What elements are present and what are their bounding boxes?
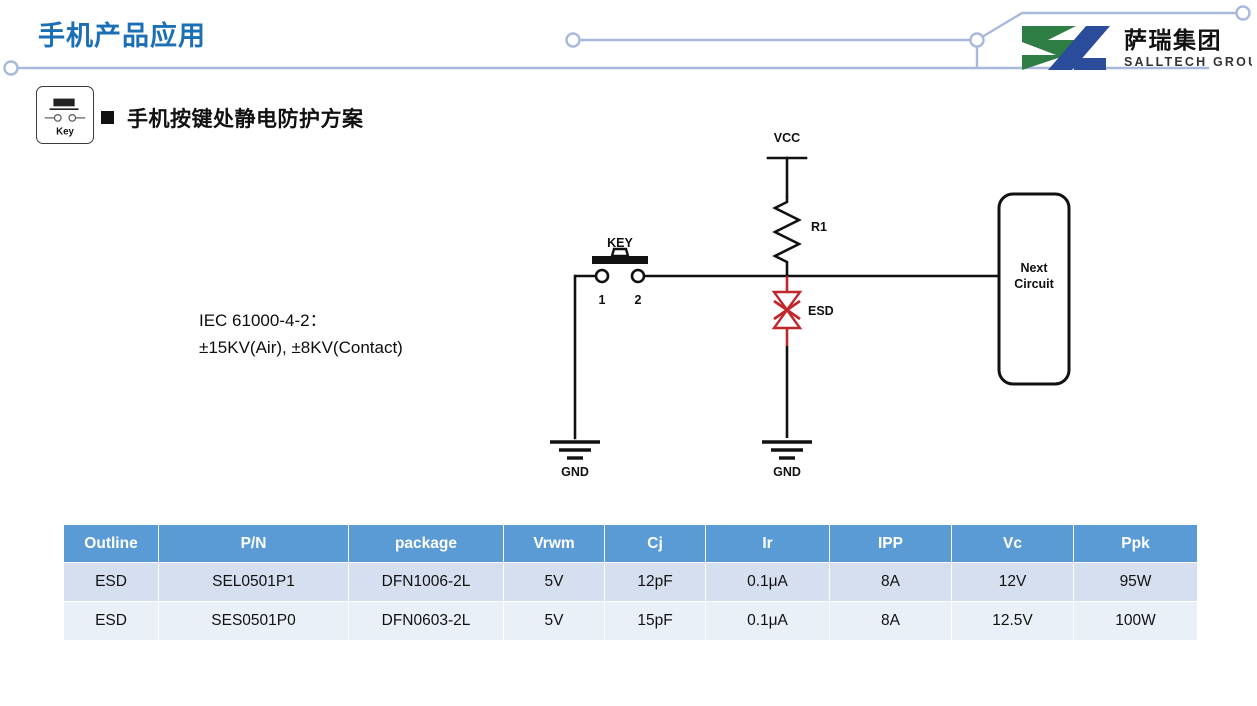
column-header-ir: Ir [706,525,830,563]
resistor-r1-symbol [775,196,799,270]
cell-vc: 12V [952,563,1074,602]
table-header-row: Outline P/N package Vrwm Cj Ir IPP Vc Pp… [64,525,1198,563]
page-title: 手机产品应用 [38,14,206,53]
cell-vrwm: 5V [504,602,605,641]
next-circuit-label-line1: Next [1020,261,1048,275]
section-heading: 手机按键处静电防护方案 [127,103,364,133]
cell-outline: ESD [64,602,159,641]
iec-note-line1: IEC 61000-4-2： [199,311,327,330]
cell-outline: ESD [64,563,159,602]
column-header-package: package [349,525,504,563]
ground-symbol-left [550,442,600,458]
cell-vrwm: 5V [504,563,605,602]
circuit-node-circle [971,34,984,47]
circuit-node-circle [1237,7,1250,20]
logo-brand-en: SALLTECH GROUP [1124,55,1252,69]
slide-root: 手机产品应用 萨瑞集团 SALLTECH GROUP Key 手机按键处静电防护… [0,0,1257,706]
label-pin1: 1 [599,293,606,307]
label-vcc: VCC [774,131,800,145]
column-header-ppk: Ppk [1074,525,1198,563]
cell-package: DFN0603-2L [349,602,504,641]
table-row: ESD SES0501P0 DFN0603-2L 5V 15pF 0.1μA 8… [64,602,1198,641]
label-r1: R1 [811,220,827,234]
label-gnd-right: GND [773,465,801,479]
logo-brand-cn: 萨瑞集团 [1124,27,1222,53]
label-key: KEY [607,236,633,250]
cell-package: DFN1006-2L [349,563,504,602]
company-logo: 萨瑞集团 SALLTECH GROUP [1014,22,1252,74]
cell-cj: 15pF [605,602,706,641]
cell-vc: 12.5V [952,602,1074,641]
square-bullet-icon [101,111,114,124]
column-header-ipp: IPP [830,525,952,563]
key-icon-label: Key [56,126,74,137]
esd-tvs-diode-symbol [774,292,800,328]
cell-ppk: 100W [1074,602,1198,641]
esd-spec-table: Outline P/N package Vrwm Cj Ir IPP Vc Pp… [63,524,1198,641]
circuit-node-circle [5,62,18,75]
column-header-outline: Outline [64,525,159,563]
label-esd: ESD [808,304,834,318]
iec-standard-note: IEC 61000-4-2：±15KV(Air), ±8KV(Contact) [199,307,403,361]
table-row: ESD SEL0501P1 DFN1006-2L 5V 12pF 0.1μA 8… [64,563,1198,602]
cell-pn: SES0501P0 [159,602,349,641]
column-header-pn: P/N [159,525,349,563]
key-icon-box: Key [36,86,94,144]
column-header-vrwm: Vrwm [504,525,605,563]
salltech-sl-mark [1022,26,1110,70]
ground-symbol-right [762,442,812,458]
column-header-vc: Vc [952,525,1074,563]
cell-ir: 0.1μA [706,602,830,641]
cell-ipp: 8A [830,602,952,641]
esd-protection-schematic: Next Circuit VCC R1 KEY 1 2 ESD GND GND [520,118,1140,488]
next-circuit-label-line2: Circuit [1014,277,1054,291]
iec-note-line2: ±15KV(Air), ±8KV(Contact) [199,338,403,357]
circuit-node-circle [567,34,580,47]
label-gnd-left: GND [561,465,589,479]
cell-ir: 0.1μA [706,563,830,602]
cell-ipp: 8A [830,563,952,602]
cell-cj: 12pF [605,563,706,602]
push-button-key-icon: Key [37,87,93,143]
column-header-cj: Cj [605,525,706,563]
label-pin2: 2 [635,293,642,307]
cell-pn: SEL0501P1 [159,563,349,602]
cell-ppk: 95W [1074,563,1198,602]
key-switch-symbol [575,249,648,282]
